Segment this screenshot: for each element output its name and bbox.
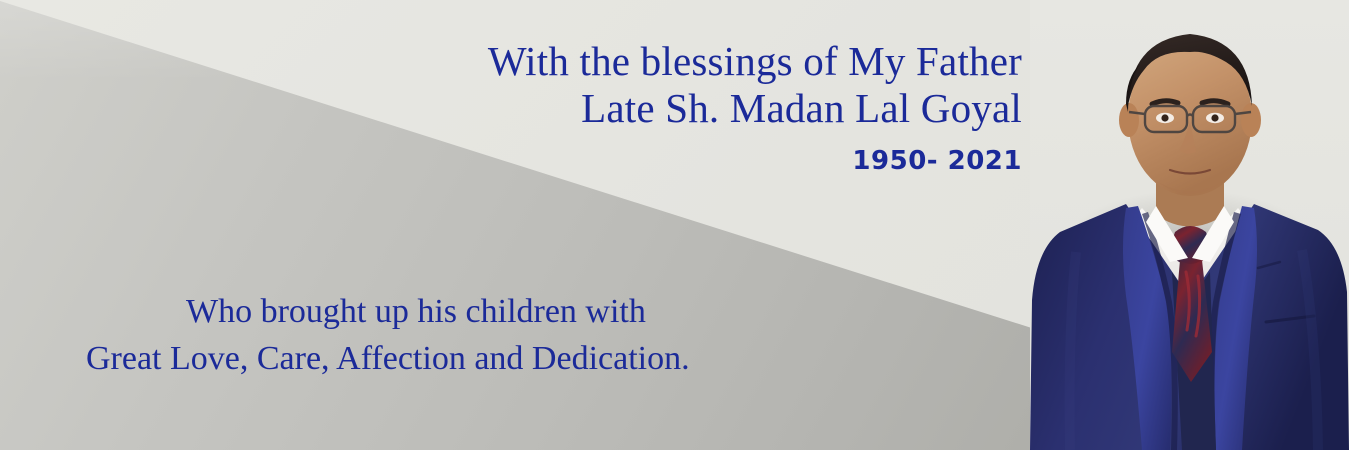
tribute-line-1: Who brought up his children with xyxy=(86,288,690,335)
portrait-photo xyxy=(1030,0,1349,450)
tribute-block: Who brought up his children with Great L… xyxy=(86,288,690,382)
portrait-illustration xyxy=(1030,0,1349,450)
headline-block: With the blessings of My Father Late Sh.… xyxy=(488,38,1022,132)
tribute-line-2: Great Love, Care, Affection and Dedicati… xyxy=(86,335,690,382)
headline-line-1: With the blessings of My Father xyxy=(488,38,1022,85)
headline-line-2: Late Sh. Madan Lal Goyal xyxy=(488,85,1022,132)
life-years: 1950- 2021 xyxy=(852,146,1022,176)
memorial-banner: With the blessings of My Father Late Sh.… xyxy=(0,0,1349,450)
